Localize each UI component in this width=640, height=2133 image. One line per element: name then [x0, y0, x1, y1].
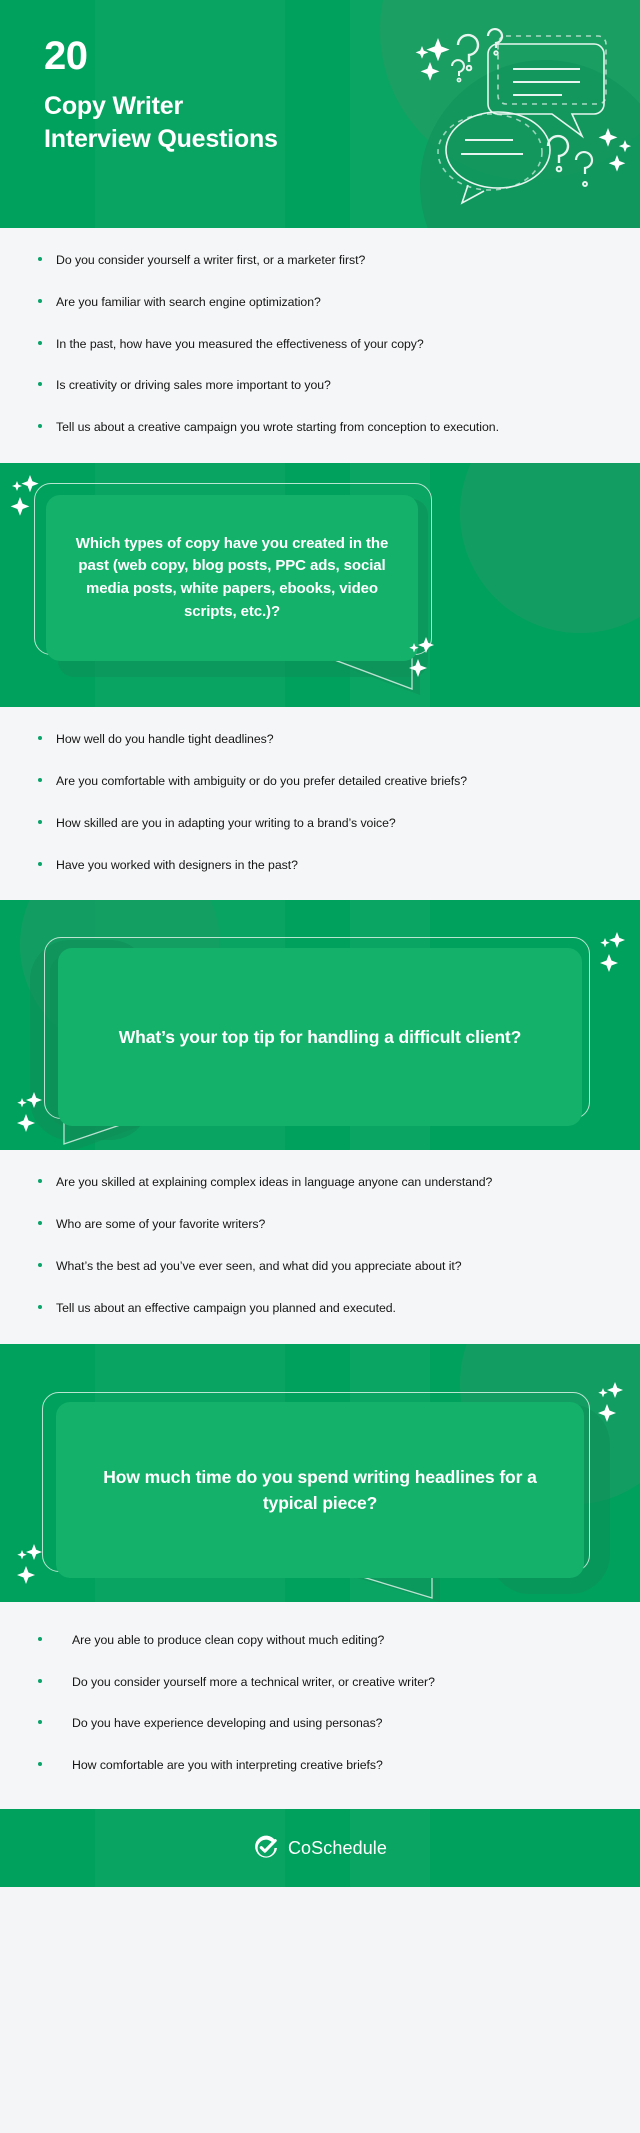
brand-name: CoSchedule	[288, 1838, 387, 1859]
list-item: Do you consider yourself a writer first,…	[30, 252, 610, 270]
list-item: Who are some of your favorite writers?	[30, 1216, 610, 1234]
quote-text: What’s your top tip for handling a diffi…	[93, 1024, 547, 1050]
sparkle-icon	[590, 1376, 636, 1436]
quote-panel-1: Which types of copy have you created in …	[0, 463, 640, 707]
question-list-2: How well do you handle tight deadlines? …	[0, 707, 640, 900]
question-text: How skilled are you in adapting your wri…	[56, 816, 396, 830]
list-item: What’s the best ad you’ve ever seen, and…	[30, 1258, 610, 1276]
question-text: Are you able to produce clean copy witho…	[72, 1633, 384, 1647]
list-item: Tell us about a creative campaign you wr…	[30, 419, 610, 437]
page-title-line2: Interview Questions	[44, 123, 374, 156]
list-item: Tell us about an effective campaign you …	[30, 1300, 610, 1318]
bubble-wrap: How much time do you spend writing headl…	[0, 1344, 640, 1602]
page-title-line1: Copy Writer	[44, 90, 374, 123]
bullet-dot-icon	[38, 1263, 42, 1267]
question-text: What’s the best ad you’ve ever seen, and…	[56, 1259, 462, 1273]
question-list-3: Are you skilled at explaining complex id…	[0, 1150, 640, 1343]
list-item: Are you skilled at explaining complex id…	[30, 1174, 610, 1192]
header-banner: 20 Copy Writer Interview Questions	[0, 0, 640, 228]
bullet-dot-icon	[38, 778, 42, 782]
bullet-dot-icon	[38, 424, 42, 428]
bullet-dot-icon	[38, 1305, 42, 1309]
question-text: Are you skilled at explaining complex id…	[56, 1175, 492, 1189]
bubble-wrap: What’s your top tip for handling a diffi…	[0, 900, 640, 1150]
list-item: Are you familiar with search engine opti…	[30, 294, 610, 312]
bullet-dot-icon	[38, 1221, 42, 1225]
question-text: Do you consider yourself a writer first,…	[56, 253, 365, 267]
list-item: How well do you handle tight deadlines?	[30, 731, 610, 749]
bubble-body: How much time do you spend writing headl…	[56, 1402, 584, 1578]
bullet-dot-icon	[38, 862, 42, 866]
quote-text: How much time do you spend writing headl…	[56, 1464, 584, 1517]
list-item: Do you have experience developing and us…	[30, 1715, 610, 1733]
list-item: In the past, how have you measured the e…	[30, 336, 610, 354]
page-title: Copy Writer Interview Questions	[44, 90, 374, 155]
bullet-dot-icon	[38, 1762, 42, 1766]
question-text: Who are some of your favorite writers?	[56, 1217, 265, 1231]
question-count: 20	[44, 36, 640, 76]
question-list-4: Are you able to produce clean copy witho…	[0, 1602, 640, 1809]
sparkle-icon	[592, 926, 638, 988]
question-text: Do you consider yourself more a technica…	[72, 1675, 435, 1689]
quote-panel-2: What’s your top tip for handling a diffi…	[0, 900, 640, 1150]
question-text: Is creativity or driving sales more impo…	[56, 378, 331, 392]
infographic-page: 20 Copy Writer Interview Questions Do yo…	[0, 0, 640, 1887]
question-text: In the past, how have you measured the e…	[56, 337, 424, 351]
quote-panel-3: How much time do you spend writing headl…	[0, 1344, 640, 1602]
question-text: How comfortable are you with interpretin…	[72, 1758, 383, 1772]
bullet-dot-icon	[38, 1179, 42, 1183]
bullet-dot-icon	[38, 341, 42, 345]
bubble-body: What’s your top tip for handling a diffi…	[58, 948, 582, 1126]
list-item: Is creativity or driving sales more impo…	[30, 377, 610, 395]
bullet-dot-icon	[38, 1679, 42, 1683]
bullet-dot-icon	[38, 736, 42, 740]
question-text: How well do you handle tight deadlines?	[56, 732, 274, 746]
question-list-1: Do you consider yourself a writer first,…	[0, 228, 640, 463]
question-text: Are you familiar with search engine opti…	[56, 295, 321, 309]
bullet-dot-icon	[38, 257, 42, 261]
bullet-dot-icon	[38, 299, 42, 303]
list-item: Do you consider yourself more a technica…	[30, 1674, 610, 1692]
footer-bar: CoSchedule	[0, 1809, 640, 1887]
question-text: Do you have experience developing and us…	[72, 1716, 382, 1730]
header-content: 20 Copy Writer Interview Questions	[0, 0, 640, 155]
bullet-dot-icon	[38, 1720, 42, 1724]
quote-text: Which types of copy have you created in …	[46, 533, 418, 624]
bubble-wrap: Which types of copy have you created in …	[0, 463, 640, 707]
list-item: How comfortable are you with interpretin…	[30, 1757, 610, 1775]
question-text: Tell us about an effective campaign you …	[56, 1301, 396, 1315]
bullet-dot-icon	[38, 382, 42, 386]
bullet-dot-icon	[38, 820, 42, 824]
question-text: Are you comfortable with ambiguity or do…	[56, 774, 467, 788]
list-item: How skilled are you in adapting your wri…	[30, 815, 610, 833]
list-item: Are you comfortable with ambiguity or do…	[30, 773, 610, 791]
list-item: Have you worked with designers in the pa…	[30, 857, 610, 875]
list-item: Are you able to produce clean copy witho…	[30, 1632, 610, 1650]
question-text: Tell us about a creative campaign you wr…	[56, 420, 499, 434]
question-text: Have you worked with designers in the pa…	[56, 858, 298, 872]
bullet-dot-icon	[38, 1637, 42, 1641]
coschedule-logo[interactable]: CoSchedule	[253, 1835, 387, 1861]
bubble-body: Which types of copy have you created in …	[46, 495, 418, 661]
coschedule-check-circle-logo-icon	[253, 1835, 279, 1861]
